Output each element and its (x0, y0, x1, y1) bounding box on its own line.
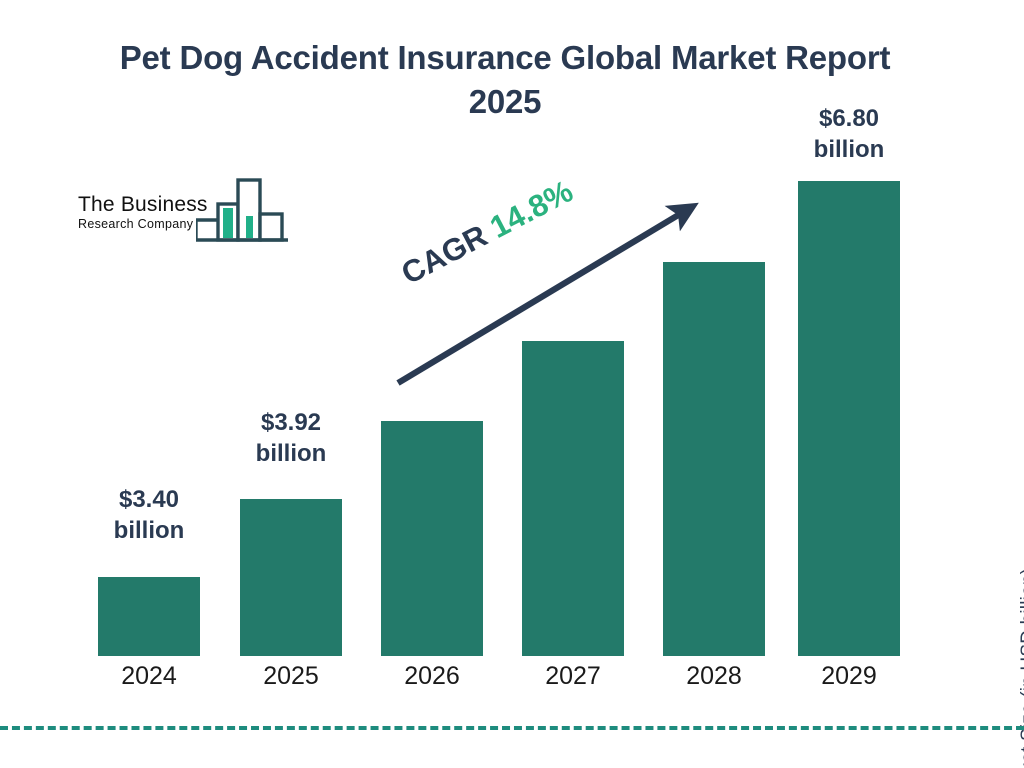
bar-2028 (663, 262, 765, 656)
chart-page: Pet Dog Accident Insurance Global Market… (0, 0, 1024, 768)
bar-value-line1: $3.92 (261, 409, 321, 436)
x-tick-2024: 2024 (98, 662, 200, 691)
x-tick-2026: 2026 (381, 662, 483, 691)
bar-value-line2: billion (814, 136, 885, 163)
bar-2024 (98, 577, 200, 656)
bar-2026 (381, 421, 483, 656)
y-axis-title: Market Size (in USD billion) (1018, 568, 1024, 768)
x-tick-2027: 2027 (522, 662, 624, 691)
bar-value-line1: $6.80 (819, 105, 879, 132)
bar-value-label-2029: $6.80 billion (788, 104, 910, 165)
bar-2025 (240, 499, 342, 656)
footer-divider (0, 726, 1024, 730)
bar-value-line2: billion (114, 517, 185, 544)
x-tick-2025: 2025 (240, 662, 342, 691)
bar-value-line1: $3.40 (119, 486, 179, 513)
x-tick-2028: 2028 (663, 662, 765, 691)
bar-value-label-2025: $3.92 billion (230, 408, 352, 469)
bar-value-line2: billion (256, 440, 327, 467)
bar-chart-plot-area: $3.40 billion 2024 $3.92 billion 2025 20… (0, 0, 1024, 768)
bar-value-label-2024: $3.40 billion (88, 485, 210, 546)
bar-2027 (522, 341, 624, 656)
x-tick-2029: 2029 (798, 662, 900, 691)
bar-2029 (798, 181, 900, 656)
